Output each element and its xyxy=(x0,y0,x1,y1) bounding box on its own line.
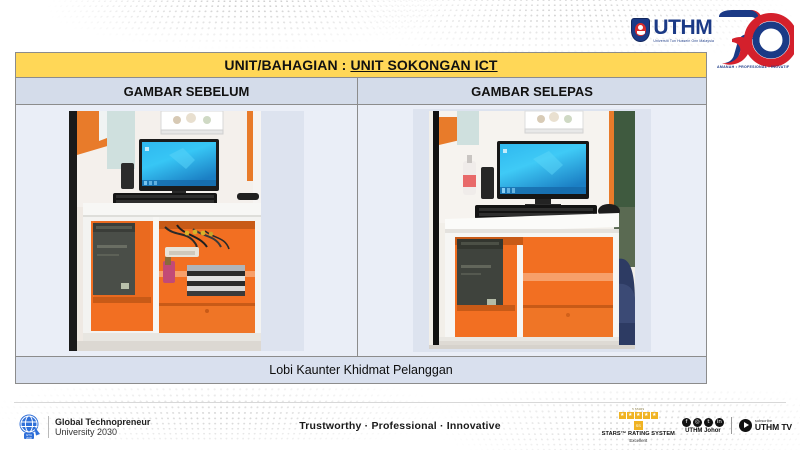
footer-right-cluster: 5 STARS ★ ★ ★ ★ ★ SS STARS™ RATING SYSTE… xyxy=(602,408,792,443)
twitter-icon[interactable]: t xyxy=(704,418,713,427)
stars-level: Excellent xyxy=(629,438,647,443)
uthm-tv-channel: UTHM TV xyxy=(755,423,792,432)
uthm-abbrev: UTHM xyxy=(653,17,714,38)
svg-text:2030: 2030 xyxy=(26,436,32,440)
linkedin-icon[interactable]: in xyxy=(715,418,724,427)
anniversary-30-graphic xyxy=(716,8,794,70)
table-column-header-row: GAMBAR SEBELUM GAMBAR SELEPAS xyxy=(16,78,706,105)
photo-after xyxy=(413,109,651,352)
social-icons-row[interactable]: f ◎ t in xyxy=(682,418,724,427)
instagram-icon[interactable]: ◎ xyxy=(693,418,702,427)
table-caption: Lobi Kaunter Khidmat Pelanggan xyxy=(269,363,452,377)
shield-crest-icon xyxy=(635,23,646,36)
star-icon: ★ xyxy=(627,412,634,419)
uthm-wordmark: UTHM Universiti Tun Hussein Onn Malaysia xyxy=(653,17,714,43)
slide-canvas: UTHM Universiti Tun Hussein Onn Malaysia xyxy=(0,0,800,450)
stars-row: ★ ★ ★ ★ ★ xyxy=(619,412,658,419)
star-icon: ★ xyxy=(635,412,642,419)
column-header-before: GAMBAR SEBELUM xyxy=(16,78,358,104)
star-icon: ★ xyxy=(619,412,626,419)
table-title: UNIT/BAHAGIAN : UNIT SOKONGAN ICT xyxy=(224,57,497,73)
photo-after-graphic xyxy=(413,109,651,352)
footer-vertical-divider xyxy=(731,417,732,434)
halftone-pattern-top-left xyxy=(8,0,492,51)
social-handle-label: UTHM Johor xyxy=(685,428,721,434)
uthm-tv-text: subscribe UTHM TV xyxy=(755,419,792,433)
brand-tagline: AMANAH • PROFESIONAL • INOVATIF xyxy=(717,65,789,69)
facebook-icon[interactable]: f xyxy=(682,418,691,427)
column-header-after: GAMBAR SELEPAS xyxy=(358,78,706,104)
stars-rating-logo: 5 STARS ★ ★ ★ ★ ★ SS STARS™ RATING SYSTE… xyxy=(602,408,675,443)
stars-top-caption: 5 STARS xyxy=(632,408,644,411)
social-media-block[interactable]: f ◎ t in UTHM Johor xyxy=(682,418,724,434)
youtube-play-icon[interactable] xyxy=(739,419,752,432)
uthm-shield-icon xyxy=(631,18,650,42)
photo-cell-after xyxy=(358,105,706,356)
stars-system-name: STARS™ RATING SYSTEM xyxy=(602,431,675,437)
table-title-label: UNIT/BAHAGIAN : xyxy=(224,57,346,73)
footer-divider xyxy=(14,402,786,403)
photo-cell-before xyxy=(16,105,358,356)
star-icon: ★ xyxy=(651,412,658,419)
photo-before xyxy=(69,111,304,351)
photo-before-graphic xyxy=(69,111,304,351)
table-caption-row: Lobi Kaunter Khidmat Pelanggan xyxy=(16,357,706,383)
slide-footer: GTU 2030 Global Technopreneur University… xyxy=(0,402,800,450)
table-title-row: UNIT/BAHAGIAN : UNIT SOKONGAN ICT xyxy=(16,53,706,78)
comparison-table: UNIT/BAHAGIAN : UNIT SOKONGAN ICT GAMBAR… xyxy=(15,52,707,384)
table-photo-row xyxy=(16,105,706,357)
uthm-full-name: Universiti Tun Hussein Onn Malaysia xyxy=(653,40,714,43)
anniversary-30-logo: AMANAH • PROFESIONAL • INOVATIF xyxy=(716,8,794,70)
uthm-tv-block[interactable]: subscribe UTHM TV xyxy=(739,419,792,433)
uthm-logo: UTHM Universiti Tun Hussein Onn Malaysia xyxy=(631,8,714,43)
stars-badge-icon: SS xyxy=(634,421,643,430)
table-title-value: UNIT SOKONGAN ICT xyxy=(350,57,497,73)
star-icon: ★ xyxy=(643,412,650,419)
